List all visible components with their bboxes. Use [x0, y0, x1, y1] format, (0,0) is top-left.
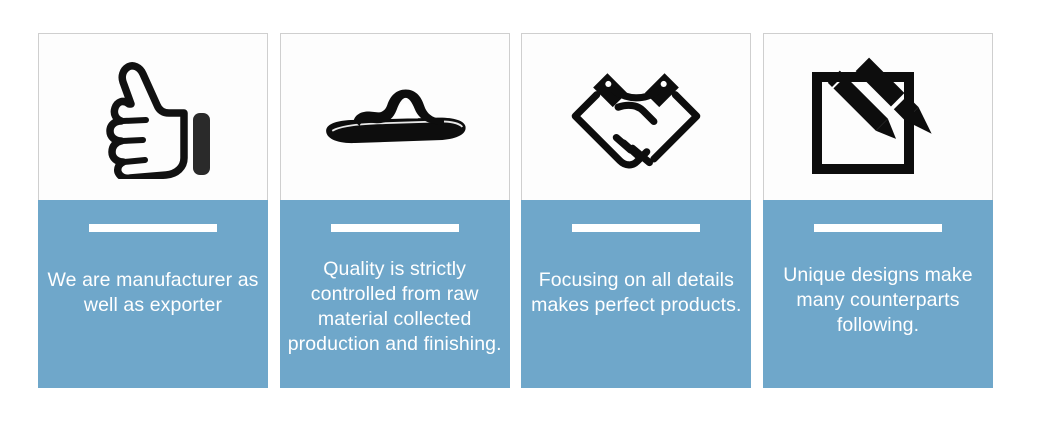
card-4-caption: Unique designs make many counterparts fo…	[765, 263, 991, 338]
card-2-caption: Quality is strictly controlled from raw …	[282, 257, 508, 357]
feature-card-3[interactable]: Focusing on all details makes perfect pr…	[521, 33, 751, 388]
card-3-caption-panel: Focusing on all details makes perfect pr…	[521, 200, 751, 388]
thumbs-up-icon	[78, 53, 228, 181]
handshake-icon	[561, 53, 711, 181]
card-1-icon-panel	[38, 33, 268, 200]
sandal-slipper-icon	[320, 53, 470, 181]
card-2-icon-panel	[280, 33, 510, 200]
cards-row: We are manufacturer as well as exporter	[38, 33, 993, 388]
card-1-caption-area: We are manufacturer as well as exporter	[38, 232, 268, 388]
card-1-caption: We are manufacturer as well as exporter	[40, 268, 266, 318]
feature-card-2[interactable]: Quality is strictly controlled from raw …	[280, 33, 510, 388]
feature-cards-banner: We are manufacturer as well as exporter	[0, 0, 1060, 421]
pen-pencil-design-icon	[803, 53, 953, 181]
card-3-divider	[572, 224, 700, 232]
card-4-icon-panel	[763, 33, 993, 200]
card-4-caption-area: Unique designs make many counterparts fo…	[763, 232, 993, 388]
card-1-divider	[89, 224, 217, 232]
feature-card-1[interactable]: We are manufacturer as well as exporter	[38, 33, 268, 388]
feature-card-4[interactable]: Unique designs make many counterparts fo…	[763, 33, 993, 388]
card-2-caption-area: Quality is strictly controlled from raw …	[280, 232, 510, 388]
card-1-caption-panel: We are manufacturer as well as exporter	[38, 200, 268, 388]
card-3-caption-area: Focusing on all details makes perfect pr…	[521, 232, 751, 388]
card-4-caption-panel: Unique designs make many counterparts fo…	[763, 200, 993, 388]
cuff-bar	[193, 113, 210, 175]
card-3-caption: Focusing on all details makes perfect pr…	[523, 268, 749, 318]
card-3-icon-panel	[521, 33, 751, 200]
card-4-divider	[814, 224, 942, 232]
card-2-divider	[331, 224, 459, 232]
card-2-caption-panel: Quality is strictly controlled from raw …	[280, 200, 510, 388]
